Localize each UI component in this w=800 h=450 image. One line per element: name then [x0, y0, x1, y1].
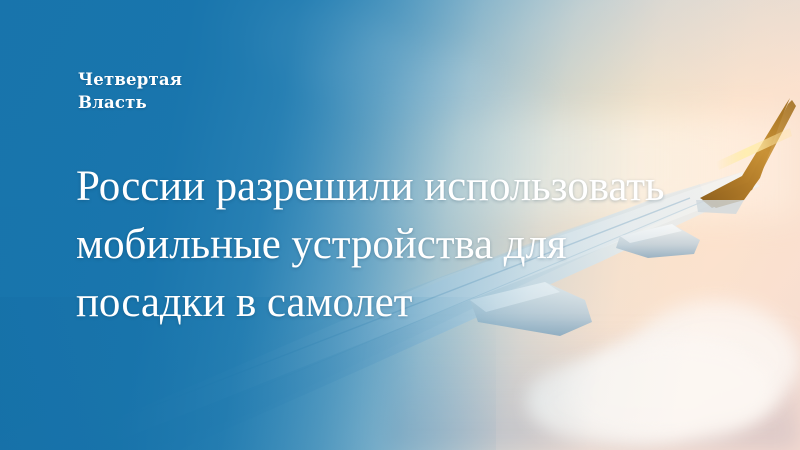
article-hero-card: Четвертая Власть России разрешили исполь…: [0, 0, 800, 450]
hero-content: Четвертая Власть России разрешили исполь…: [0, 0, 800, 450]
article-headline[interactable]: России разрешили использовать мобильные …: [76, 158, 696, 332]
site-logo[interactable]: Четвертая Власть: [78, 68, 182, 114]
